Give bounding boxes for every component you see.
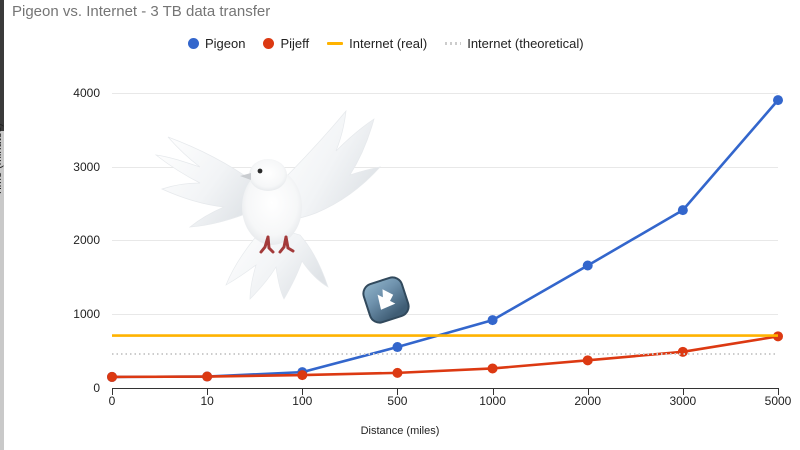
- data-point-pigeon[interactable]: [678, 205, 688, 215]
- x-tick-label: 10: [177, 394, 237, 408]
- data-point-pijeff[interactable]: [678, 347, 688, 357]
- x-tick-label: 3000: [653, 394, 713, 408]
- y-tick-label: 1000: [40, 307, 100, 321]
- data-point-pijeff[interactable]: [297, 370, 307, 380]
- x-tick-label: 100: [272, 394, 332, 408]
- series-line-pijeff: [112, 336, 778, 377]
- x-tick-label: 5000: [748, 394, 800, 408]
- data-transfer-arrow-icon[interactable]: [358, 272, 414, 328]
- x-tick-label: 2000: [558, 394, 618, 408]
- series-layer: [0, 0, 800, 450]
- data-point-pigeon[interactable]: [583, 260, 593, 270]
- y-tick-label: 4000: [40, 86, 100, 100]
- data-point-pigeon[interactable]: [773, 95, 783, 105]
- x-tick-label: 1000: [463, 394, 523, 408]
- x-tick-label: 500: [367, 394, 427, 408]
- data-point-pigeon[interactable]: [392, 342, 402, 352]
- data-point-pijeff[interactable]: [583, 355, 593, 365]
- x-tick-label: 0: [82, 394, 142, 408]
- data-point-pijeff[interactable]: [488, 363, 498, 373]
- y-tick-label: 2000: [40, 233, 100, 247]
- chart-container: Pigeon vs. Internet - 3 TB data transfer…: [0, 0, 800, 450]
- data-point-pigeon[interactable]: [488, 315, 498, 325]
- data-point-pijeff[interactable]: [107, 372, 117, 382]
- data-point-pijeff[interactable]: [392, 368, 402, 378]
- y-tick-label: 0: [40, 381, 100, 395]
- y-tick-label: 3000: [40, 160, 100, 174]
- data-point-pijeff[interactable]: [202, 372, 212, 382]
